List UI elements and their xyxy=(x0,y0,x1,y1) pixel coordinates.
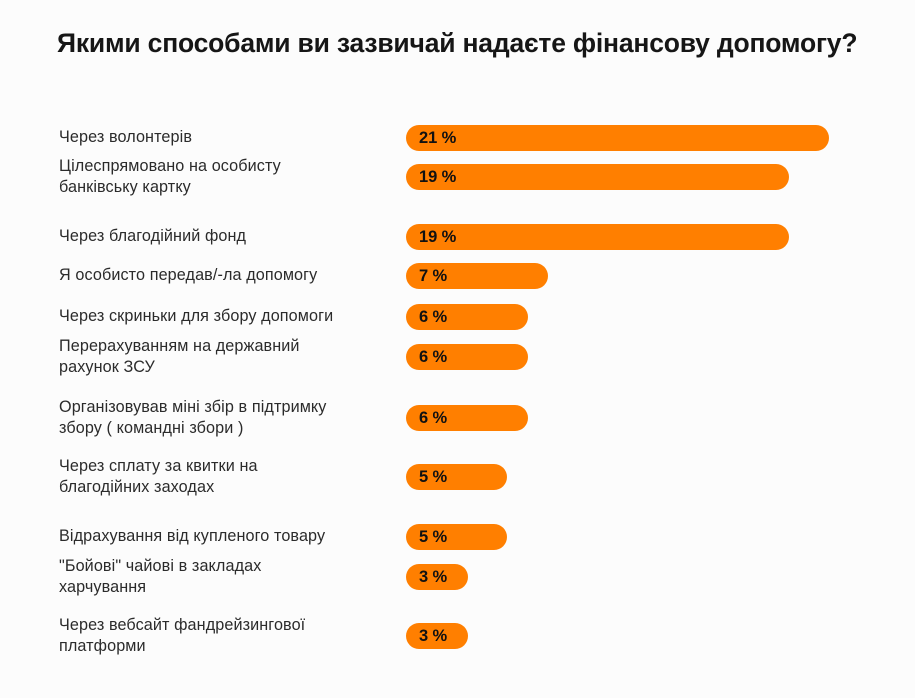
bar-value-label: 3 % xyxy=(419,623,447,649)
bar-row-label: Через сплату за квитки на благодійних за… xyxy=(59,456,394,498)
bar-row-label: Організовував міні збір в підтримку збор… xyxy=(59,397,394,439)
bar-value-label: 21 % xyxy=(419,125,456,151)
bar-track: 7 % xyxy=(406,263,548,289)
bar-track: 6 % xyxy=(406,405,528,431)
bar-track: 5 % xyxy=(406,524,507,550)
bar-row: Через сплату за квитки на благодійних за… xyxy=(0,464,915,490)
bar-track: 21 % xyxy=(406,125,829,151)
bar-row: Через благодійний фонд19 % xyxy=(0,224,915,250)
bar-row: Організовував міні збір в підтримку збор… xyxy=(0,405,915,431)
chart-container: Якими способами ви зазвичай надаєте фіна… xyxy=(0,0,915,698)
bar-value-label: 19 % xyxy=(419,164,456,190)
bar-track: 3 % xyxy=(406,564,468,590)
bar-row: Цілеспрямовано на особисту банківську ка… xyxy=(0,164,915,190)
bar-track: 19 % xyxy=(406,164,789,190)
bar-value-label: 5 % xyxy=(419,464,447,490)
bar-row: "Бойові" чайові в закладах харчування3 % xyxy=(0,564,915,590)
bar-row: Через скриньки для збору допомоги6 % xyxy=(0,304,915,330)
bar-row-label: Цілеспрямовано на особисту банківську ка… xyxy=(59,156,394,198)
bar-track: 6 % xyxy=(406,304,528,330)
bar-value-label: 7 % xyxy=(419,263,447,289)
bar-value-label: 6 % xyxy=(419,344,447,370)
bar-track: 3 % xyxy=(406,623,468,649)
bar-row-label: Я особисто передав/-ла допомогу xyxy=(59,265,394,286)
bar-row: Через вебсайт фандрейзингової платформи3… xyxy=(0,623,915,649)
bar-row-label: Відрахування від купленого товару xyxy=(59,526,394,547)
bar-track: 19 % xyxy=(406,224,789,250)
bar-row: Перерахуванням на державний рахунок ЗСУ6… xyxy=(0,344,915,370)
bar-row: Відрахування від купленого товару5 % xyxy=(0,524,915,550)
bar xyxy=(406,125,829,151)
bar-track: 5 % xyxy=(406,464,507,490)
bar-value-label: 5 % xyxy=(419,524,447,550)
bar-value-label: 3 % xyxy=(419,564,447,590)
bar xyxy=(406,164,789,190)
bar-row-label: Через волонтерів xyxy=(59,127,394,148)
bar-row-label: Перерахуванням на державний рахунок ЗСУ xyxy=(59,336,394,378)
bar-row: Я особисто передав/-ла допомогу7 % xyxy=(0,263,915,289)
chart-title: Якими способами ви зазвичай надаєте фіна… xyxy=(57,27,867,60)
bar xyxy=(406,224,789,250)
bar-value-label: 6 % xyxy=(419,405,447,431)
bar-row-label: Через вебсайт фандрейзингової платформи xyxy=(59,615,394,657)
bar-value-label: 6 % xyxy=(419,304,447,330)
bar-value-label: 19 % xyxy=(419,224,456,250)
bar-track: 6 % xyxy=(406,344,528,370)
bar-row-label: Через благодійний фонд xyxy=(59,226,394,247)
bar-row: Через волонтерів21 % xyxy=(0,125,915,151)
bar-row-label: "Бойові" чайові в закладах харчування xyxy=(59,556,394,598)
bar-row-label: Через скриньки для збору допомоги xyxy=(59,306,394,327)
